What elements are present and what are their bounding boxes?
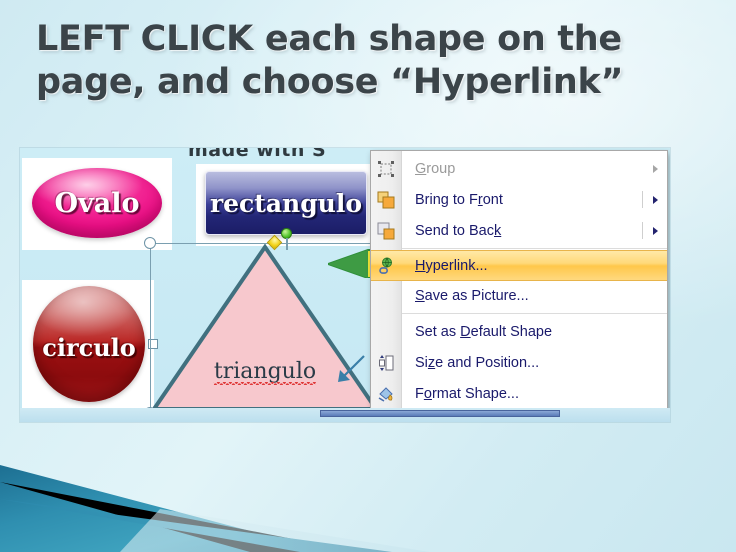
menu-item-set-as-default-shape-label: Set as Default Shape xyxy=(401,324,552,340)
menu-item-save-as-picture-label: Save as Picture... xyxy=(401,288,529,304)
menu-item-group: Group xyxy=(371,153,667,184)
shape-circulo[interactable]: circulo xyxy=(33,286,145,402)
chevron-right-icon[interactable] xyxy=(653,196,658,204)
mouse-cursor-icon xyxy=(336,354,366,384)
submenu-divider xyxy=(642,222,643,239)
menu-item-format-shape[interactable]: Format Shape... xyxy=(371,378,667,409)
menu-item-size-and-position-label: Size and Position... xyxy=(401,355,539,371)
menu-item-hyperlink[interactable]: Hyperlink... xyxy=(371,250,667,281)
menu-item-set-as-default-shape[interactable]: Set as Default Shape xyxy=(371,316,667,347)
menu-item-group-label: Group xyxy=(401,161,455,177)
cut-off-heading-text: made with S xyxy=(188,148,326,161)
menu-item-hyperlink-label: Hyperlink... xyxy=(401,258,488,274)
theme-decoration xyxy=(0,437,736,552)
bring-to-front-icon xyxy=(375,189,397,211)
bottom-strip-bar xyxy=(320,410,560,417)
submenu-divider xyxy=(642,191,643,208)
menu-item-send-to-back-label: Send to Back xyxy=(401,223,501,239)
shape-ovalo[interactable]: Ovalo xyxy=(32,168,162,238)
menu-separator xyxy=(402,248,667,249)
menu-item-bring-to-front[interactable]: Bring to Front xyxy=(371,184,667,215)
chevron-right-icon[interactable] xyxy=(653,227,658,235)
menu-item-size-and-position[interactable]: Size and Position... xyxy=(371,347,667,378)
shape-ovalo-label: Ovalo xyxy=(55,188,140,219)
send-to-back-icon xyxy=(375,220,397,242)
menu-item-bring-to-front-label: Bring to Front xyxy=(401,192,503,208)
menu-item-format-shape-label: Format Shape... xyxy=(401,386,519,402)
screenshot-bottom-strip xyxy=(20,408,670,422)
size-position-icon xyxy=(375,352,397,374)
embedded-screenshot: made with S Ovalo circulo rectangulo xyxy=(20,148,670,422)
shape-rectangulo[interactable]: rectangulo xyxy=(205,171,367,235)
circulo-card: circulo xyxy=(22,280,154,408)
context-menu[interactable]: Group Bring to Front xyxy=(370,150,668,412)
group-icon xyxy=(375,158,397,180)
menu-item-save-as-picture[interactable]: Save as Picture... xyxy=(371,280,667,311)
selection-handle-top-left[interactable] xyxy=(144,237,156,249)
menu-item-send-to-back[interactable]: Send to Back xyxy=(371,215,667,246)
chevron-right-icon xyxy=(653,165,658,173)
shape-circulo-label: circulo xyxy=(42,333,136,362)
hyperlink-icon xyxy=(375,255,397,277)
page-title-line-2: page, and choose “Hyperlink” xyxy=(36,61,676,104)
shape-rectangulo-label: rectangulo xyxy=(210,189,362,218)
page-title: LEFT CLICK each shape on the page, and c… xyxy=(36,18,676,104)
menu-separator xyxy=(402,313,667,314)
slide: LEFT CLICK each shape on the page, and c… xyxy=(0,0,736,552)
format-shape-icon xyxy=(375,383,397,405)
page-title-line-1: LEFT CLICK each shape on the xyxy=(36,18,676,61)
